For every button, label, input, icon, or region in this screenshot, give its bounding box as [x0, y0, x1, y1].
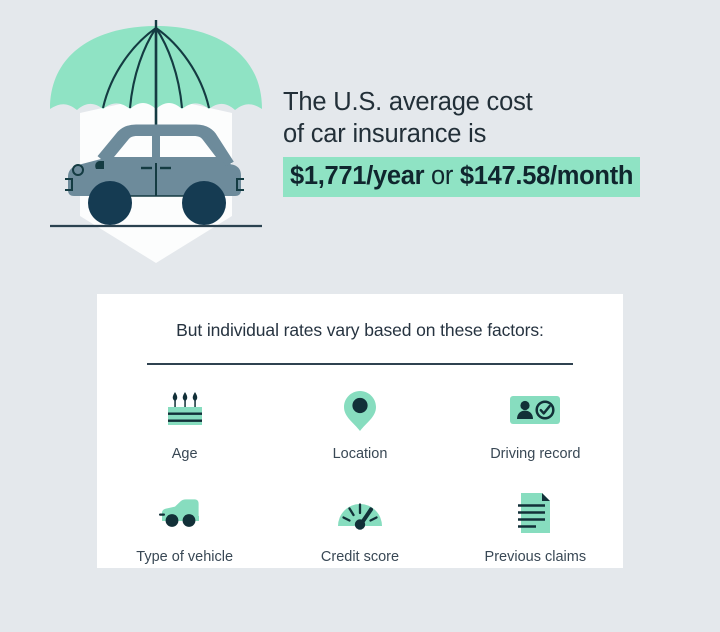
- factor-age[interactable]: Age: [97, 387, 272, 462]
- factor-driving-record[interactable]: Driving record: [448, 387, 623, 462]
- cost-per-month: $147.58/month: [460, 162, 633, 190]
- headline-line-1: The U.S. average cost: [283, 86, 683, 118]
- headline-line-2: of car insurance is: [283, 118, 683, 150]
- factor-previous-claims[interactable]: Previous claims: [448, 490, 623, 565]
- headline: The U.S. average cost of car insurance i…: [283, 86, 683, 197]
- insurance-illustration: [38, 18, 274, 270]
- gauge-icon: [334, 490, 386, 536]
- factor-label: Previous claims: [485, 549, 587, 565]
- car-side-icon: [156, 490, 214, 536]
- factors-divider: [147, 363, 573, 365]
- document-icon: [514, 490, 556, 536]
- illustration-svg: [38, 18, 274, 270]
- birthday-cake-icon: [162, 387, 208, 433]
- factor-type-of-vehicle[interactable]: Type of vehicle: [97, 490, 272, 565]
- map-pin-icon: [340, 387, 380, 433]
- factor-label: Location: [333, 446, 388, 462]
- factors-title: But individual rates vary based on these…: [97, 294, 623, 341]
- factor-label: Type of vehicle: [136, 549, 233, 565]
- hero-section: The U.S. average cost of car insurance i…: [0, 0, 720, 290]
- drivers-license-icon: [508, 387, 562, 433]
- factor-row-1: Age Location: [97, 387, 623, 462]
- cost-conjunction: or: [424, 162, 460, 190]
- factor-label: Driving record: [490, 446, 580, 462]
- factor-label: Age: [172, 446, 198, 462]
- headline-highlight: $1,771/year or $147.58/month: [283, 157, 640, 197]
- factors-card: But individual rates vary based on these…: [97, 294, 623, 568]
- factor-credit-score[interactable]: Credit score: [272, 490, 447, 565]
- factor-row-2: Type of vehicle: [97, 490, 623, 565]
- factor-location[interactable]: Location: [272, 387, 447, 462]
- factor-label: Credit score: [321, 549, 399, 565]
- cost-per-year: $1,771/year: [290, 162, 424, 190]
